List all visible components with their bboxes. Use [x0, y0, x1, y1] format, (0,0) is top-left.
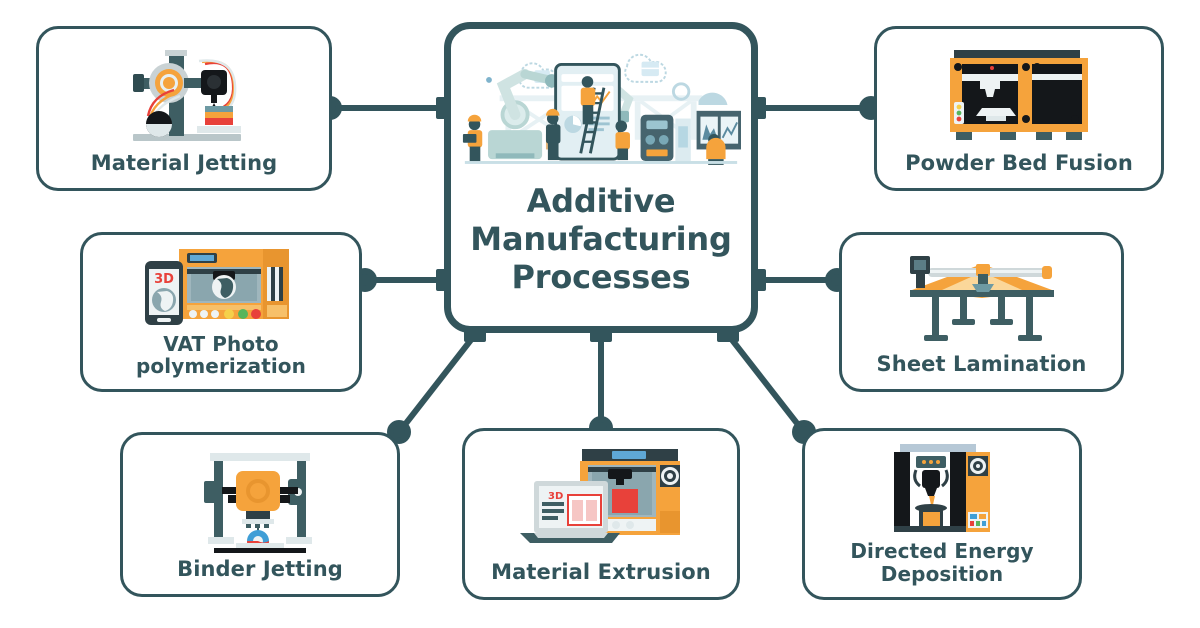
desk-workstation — [697, 111, 741, 165]
binder-jetting-printer-icon — [200, 449, 320, 555]
node-binder-jetting[interactable]: Binder Jetting — [120, 432, 400, 597]
node-label-sheet-lamination: Sheet Lamination — [877, 353, 1087, 381]
sheet-lamination-art — [850, 245, 1113, 353]
node-label-material-extrusion: Material Extrusion — [491, 561, 711, 589]
center-title-line-3: Processes — [470, 259, 731, 297]
cloud-icon-2 — [625, 55, 666, 82]
material-extrusion-icon: 3D — [516, 445, 686, 557]
worker-figure-2 — [463, 115, 482, 162]
node-label-vat-photo: VAT Photo polymerization — [136, 333, 306, 382]
material-extrusion-art: 3D — [473, 441, 729, 561]
connector-binder-jetting — [400, 336, 474, 431]
center-title-line-2: Manufacturing — [470, 221, 731, 259]
gear-icon-2 — [699, 93, 728, 105]
fan-icon — [660, 465, 680, 487]
node-label-directed-energy-line-1: Directed Energy — [850, 540, 1033, 562]
node-directed-energy[interactable]: Directed Energy Deposition — [802, 428, 1082, 600]
phone-icon: 3D — [145, 261, 183, 325]
connector-directed-energy — [729, 336, 803, 431]
material-jetting-printer-icon — [119, 46, 249, 146]
powder-bed-fusion-art — [885, 39, 1153, 152]
center-node[interactable]: Additive Manufacturing Processes — [444, 22, 758, 333]
svg-text:3D: 3D — [154, 272, 174, 287]
node-sheet-lamination[interactable]: Sheet Lamination — [839, 232, 1124, 392]
svg-text:3D: 3D — [548, 491, 563, 502]
node-vat-photo[interactable]: 3D VAT Photo polymerization — [80, 232, 362, 392]
node-material-jetting[interactable]: Material Jetting — [36, 26, 332, 191]
node-label-vat-photo-line-2: polymerization — [136, 355, 306, 377]
material-jetting-art — [47, 39, 321, 152]
worker-figure — [581, 76, 595, 124]
fan-icon — [968, 456, 988, 476]
node-label-powder-bed-fusion: Powder Bed Fusion — [905, 152, 1133, 180]
diagram-canvas: Additive Manufacturing Processes — [0, 0, 1200, 628]
binder-jetting-art — [131, 445, 389, 558]
sheet-lamination-icon — [902, 250, 1062, 348]
vat-photo-art: 3D — [91, 245, 351, 333]
node-label-vat-photo-line-1: VAT Photo — [136, 333, 306, 355]
node-powder-bed-fusion[interactable]: Powder Bed Fusion — [874, 26, 1164, 191]
node-label-material-jetting: Material Jetting — [91, 152, 278, 180]
worker-figure-4 — [615, 120, 629, 160]
center-title-line-1: Additive — [470, 183, 731, 221]
node-material-extrusion[interactable]: 3D Material Extrusion — [462, 428, 740, 600]
node-label-binder-jetting: Binder Jetting — [177, 558, 343, 586]
node-label-directed-energy: Directed Energy Deposition — [850, 540, 1033, 589]
center-illustration — [461, 41, 741, 169]
machine-unit — [641, 115, 691, 161]
node-label-directed-energy-line-2: Deposition — [850, 563, 1033, 585]
control-panel-icon — [968, 512, 988, 528]
directed-energy-deposition-icon — [892, 442, 992, 540]
directed-energy-art — [813, 441, 1071, 540]
vat-photopolymerization-icon: 3D — [143, 245, 299, 333]
center-title: Additive Manufacturing Processes — [470, 183, 731, 296]
powder-bed-fusion-printer-icon — [936, 46, 1102, 146]
laptop-icon: 3D — [520, 481, 620, 543]
